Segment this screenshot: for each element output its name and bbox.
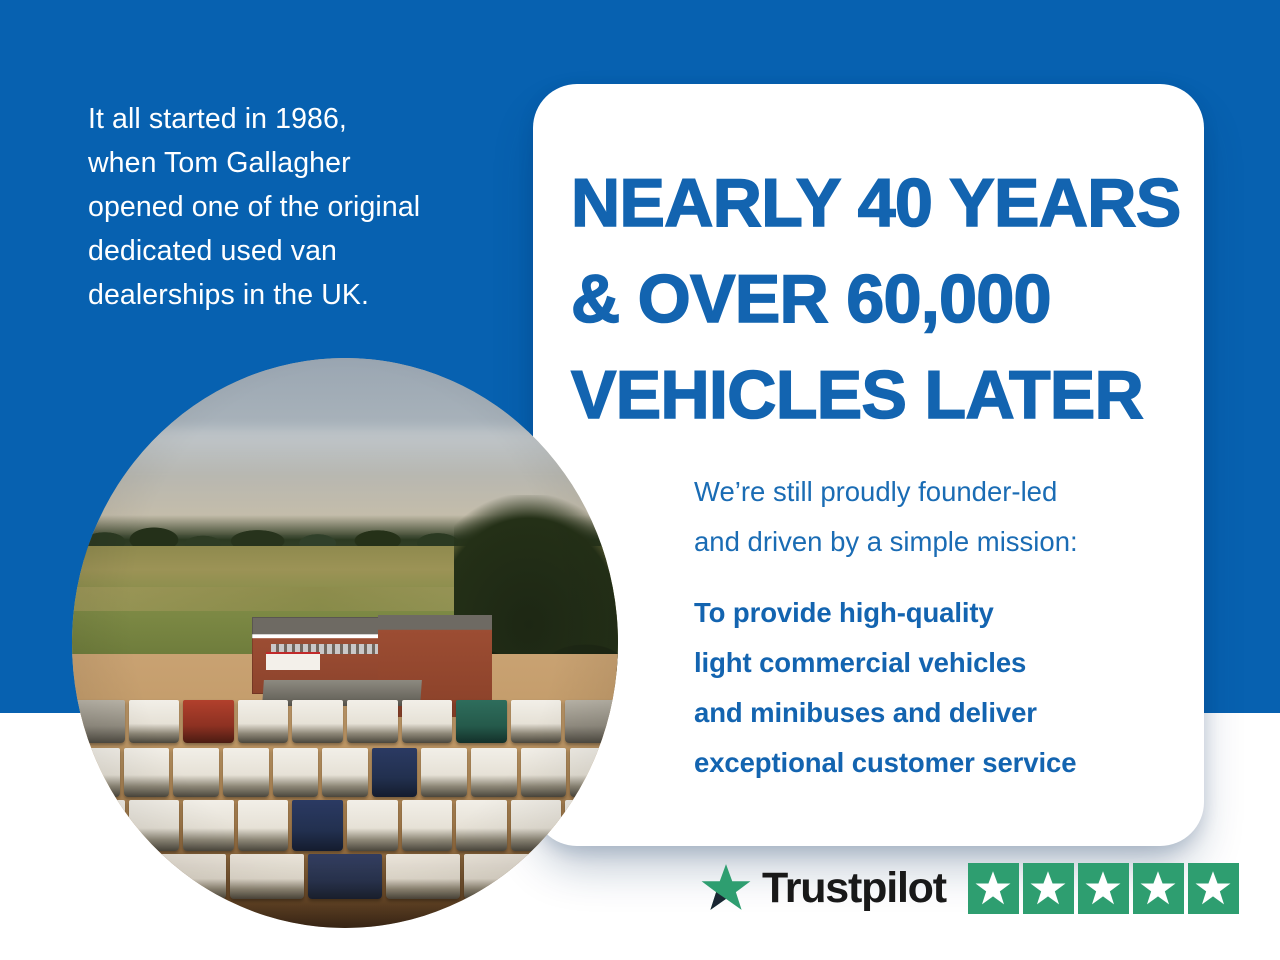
photo-van-row xyxy=(72,748,618,796)
photo-van xyxy=(74,700,125,743)
photo-van xyxy=(308,854,382,900)
photo-van xyxy=(456,700,507,743)
mission-statement: To provide high-quality light commercial… xyxy=(694,588,1164,788)
photo-van xyxy=(521,748,567,796)
photo-van xyxy=(124,748,170,796)
photo-van xyxy=(402,800,453,851)
photo-van xyxy=(292,700,343,743)
photo-van xyxy=(421,748,467,796)
trustpilot-star-4[interactable] xyxy=(1133,863,1184,914)
photo-van xyxy=(402,700,453,743)
trustpilot-star-5[interactable] xyxy=(1188,863,1239,914)
headline-line: VEHICLES LATER xyxy=(571,347,1191,443)
trustpilot-wordmark: Trustpilot xyxy=(762,867,946,910)
photo-van xyxy=(565,800,616,851)
photo-dealer-sign xyxy=(266,652,321,670)
photo-van xyxy=(183,800,234,851)
photo-van xyxy=(183,700,234,743)
photo-van xyxy=(129,800,180,851)
photo-van xyxy=(456,800,507,851)
photo-van xyxy=(230,854,304,900)
intro-line: dedicated used van xyxy=(88,229,498,273)
trustpilot-star-1[interactable] xyxy=(968,863,1019,914)
subcopy-line: We’re still proudly founder-led xyxy=(694,467,1164,517)
photo-van xyxy=(347,800,398,851)
photo-van xyxy=(238,800,289,851)
trustpilot-star-row[interactable] xyxy=(968,863,1239,914)
photo-van xyxy=(511,700,562,743)
photo-van xyxy=(74,800,125,851)
photo-van xyxy=(347,700,398,743)
poster-canvas: It all started in 1986, when Tom Gallagh… xyxy=(0,0,1280,960)
photo-van xyxy=(511,800,562,851)
photo-van xyxy=(74,748,120,796)
subcopy-line: and driven by a simple mission: xyxy=(694,517,1164,567)
photo-van-row xyxy=(72,700,618,743)
photo-van xyxy=(322,748,368,796)
photo-van xyxy=(74,854,148,900)
trustpilot-star-icon xyxy=(700,862,752,914)
mission-line: To provide high-quality xyxy=(694,588,1164,638)
photo-van xyxy=(173,748,219,796)
photo-van xyxy=(129,700,180,743)
photo-van xyxy=(238,700,289,743)
trustpilot-star-3[interactable] xyxy=(1078,863,1129,914)
mission-line: and minibuses and deliver xyxy=(694,688,1164,738)
trustpilot-logo[interactable]: Trustpilot xyxy=(700,862,946,914)
photo-van-row xyxy=(72,800,618,851)
photo-van xyxy=(292,800,343,851)
photo-van xyxy=(273,748,319,796)
intro-line: when Tom Gallagher xyxy=(88,141,498,185)
intro-line: opened one of the original xyxy=(88,185,498,229)
photo-van xyxy=(386,854,460,900)
photo-van xyxy=(152,854,226,900)
photo-van xyxy=(570,748,616,796)
photo-van-row xyxy=(72,854,618,900)
photo-van xyxy=(372,748,418,796)
photo-van xyxy=(565,700,616,743)
photo-van xyxy=(471,748,517,796)
photo-van xyxy=(464,854,538,900)
intro-line: dealerships in the UK. xyxy=(88,273,498,317)
mission-line: light commercial vehicles xyxy=(694,638,1164,688)
intro-paragraph: It all started in 1986, when Tom Gallagh… xyxy=(88,97,498,317)
page-title: NEARLY 40 YEARS & OVER 60,000 VEHICLES L… xyxy=(571,155,1191,443)
headline-line: NEARLY 40 YEARS xyxy=(571,155,1191,251)
subheading-paragraph: We’re still proudly founder-led and driv… xyxy=(694,467,1164,567)
trustpilot-star-2[interactable] xyxy=(1023,863,1074,914)
mission-line: exceptional customer service xyxy=(694,738,1164,788)
photo-van xyxy=(223,748,269,796)
photo-scene xyxy=(72,358,618,928)
intro-line: It all started in 1986, xyxy=(88,97,498,141)
photo-van xyxy=(542,854,616,900)
trustpilot-rating[interactable]: Trustpilot xyxy=(700,862,1239,914)
dealership-photo xyxy=(72,358,618,928)
headline-line: & OVER 60,000 xyxy=(571,251,1191,347)
